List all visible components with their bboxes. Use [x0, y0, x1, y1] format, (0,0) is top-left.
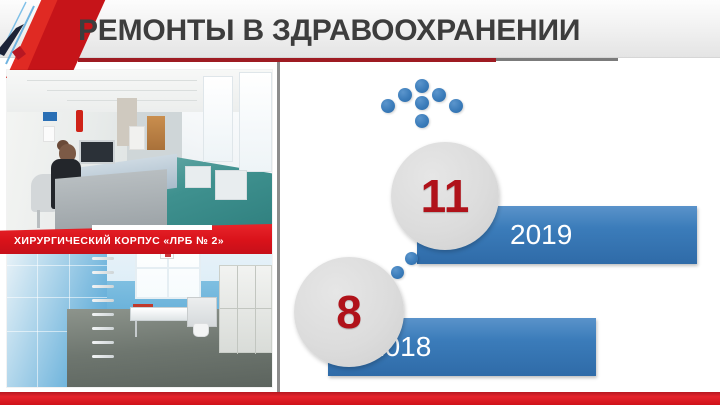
- hospital-corridor-photo: [7, 70, 272, 235]
- comparison-chart: 2019 11 2018 8: [286, 60, 714, 395]
- connector-dot: [391, 266, 404, 279]
- corridor-window: [239, 72, 272, 172]
- ward-lockers: [219, 265, 272, 353]
- window-mullion: [135, 267, 201, 269]
- wall-sign: [43, 112, 57, 121]
- arrow-dot: [398, 88, 412, 102]
- hospital-ward-photo: [7, 235, 272, 387]
- folded-stretcher-rack: [92, 257, 110, 377]
- arrow-dot: [449, 99, 463, 113]
- page-title: РЕМОНТЫ В ЗДРАВООХРАНЕНИИ: [78, 8, 678, 54]
- locker-divider: [255, 266, 256, 354]
- arrow-dot: [432, 88, 446, 102]
- corridor-radiator: [185, 166, 211, 188]
- tile-line: [37, 235, 38, 387]
- rack-bar: [92, 327, 114, 330]
- rack-bar: [92, 341, 114, 344]
- rack-bar: [92, 285, 114, 288]
- arrow-dot: [381, 99, 395, 113]
- caption-label: ХИРУРГИЧЕСКИЙ КОРПУС «ЛРБ № 2»: [14, 231, 284, 251]
- footer-red-bar: [0, 392, 720, 405]
- corridor-radiator: [215, 170, 247, 200]
- chair-leg: [37, 210, 40, 228]
- value-bubble-2019[interactable]: 11: [391, 142, 499, 250]
- connector-dot: [405, 252, 418, 265]
- wall-notice: [43, 126, 55, 142]
- arrow-dot: [415, 96, 429, 110]
- bucket: [193, 323, 209, 337]
- arrow-dot: [415, 114, 429, 128]
- value-bubble-2018[interactable]: 8: [294, 257, 404, 367]
- corridor-cabinet: [147, 116, 165, 150]
- rack-bar: [92, 271, 114, 274]
- rack-bar: [92, 299, 114, 302]
- panel-divider: [277, 62, 280, 392]
- arrow-dot: [415, 79, 429, 93]
- rack-bar: [92, 313, 114, 316]
- value-2018: 8: [336, 289, 362, 335]
- ceiling-line: [27, 80, 197, 81]
- locker-divider: [237, 266, 238, 354]
- fire-extinguisher-icon: [76, 110, 83, 132]
- rack-bar: [92, 257, 114, 260]
- corridor-window: [203, 76, 233, 162]
- rack-bar: [92, 355, 114, 358]
- bar-label-2019: 2019: [510, 206, 572, 264]
- desk-monitor: [79, 140, 115, 164]
- locker-divider: [220, 308, 272, 309]
- caption-white-tab: [92, 225, 212, 230]
- bench-leg: [135, 321, 137, 337]
- value-2019: 11: [421, 173, 470, 219]
- corridor-box: [129, 126, 145, 150]
- slide-root: РЕМОНТЫ В ЗДРАВООХРАНЕНИИ: [0, 0, 720, 405]
- ceiling-line: [47, 90, 197, 91]
